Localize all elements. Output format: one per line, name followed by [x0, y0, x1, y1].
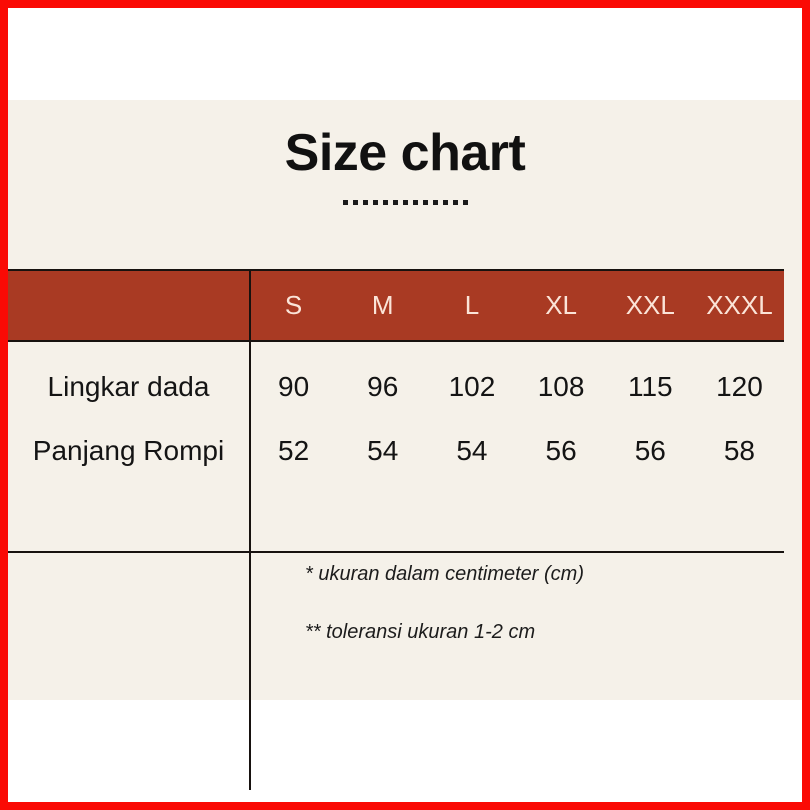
- cell-value: 54: [427, 435, 516, 467]
- cell-value: 90: [249, 371, 338, 403]
- divider-dot: [433, 200, 438, 205]
- row-values: 90 96 102 108 115 120: [249, 371, 784, 403]
- divider-dot: [453, 200, 458, 205]
- cell-value: 102: [427, 371, 516, 403]
- divider-dot: [343, 200, 348, 205]
- divider-dot: [413, 200, 418, 205]
- divider-dot: [443, 200, 448, 205]
- header-size-cells: S M L XL XXL XXXL: [249, 290, 784, 321]
- table-rule-under-header: [8, 340, 784, 342]
- divider-dot: [393, 200, 398, 205]
- cell-value: 58: [695, 435, 784, 467]
- divider-dot: [423, 200, 428, 205]
- row-label: Panjang Rompi: [8, 435, 249, 467]
- table-notes: * ukuran dalam centimeter (cm) ** tolera…: [257, 564, 777, 642]
- divider-dot: [463, 200, 468, 205]
- row-values: 52 54 54 56 56 58: [249, 435, 784, 467]
- divider-dot: [403, 200, 408, 205]
- header-cell-xxxl: XXXL: [695, 290, 784, 321]
- divider-dot: [373, 200, 378, 205]
- header-cell-xxl: XXL: [606, 290, 695, 321]
- table-column-divider: [249, 271, 251, 790]
- size-table: S M L XL XXL XXXL Lingkar dada 90 96 102…: [8, 269, 784, 692]
- title-dot-divider: [0, 200, 810, 205]
- table-rule-above-notes: [8, 551, 784, 553]
- header-cell-xl: XL: [517, 290, 606, 321]
- table-row: Lingkar dada 90 96 102 108 115 120: [8, 355, 784, 419]
- cell-value: 56: [517, 435, 606, 467]
- cell-value: 115: [606, 371, 695, 403]
- divider-dot: [353, 200, 358, 205]
- cell-value: 52: [249, 435, 338, 467]
- size-chart-page: Size chart S: [0, 0, 810, 810]
- cell-value: 54: [338, 435, 427, 467]
- note-units: * ukuran dalam centimeter (cm): [305, 564, 777, 584]
- divider-dot: [383, 200, 388, 205]
- row-label: Lingkar dada: [8, 371, 249, 403]
- header-cell-l: L: [427, 290, 516, 321]
- cell-value: 56: [606, 435, 695, 467]
- cell-value: 108: [517, 371, 606, 403]
- table-row: Panjang Rompi 52 54 54 56 56 58: [8, 419, 784, 483]
- divider-dot: [363, 200, 368, 205]
- size-chart-panel: Size chart S: [0, 100, 810, 700]
- note-tolerance: ** toleransi ukuran 1-2 cm: [305, 622, 777, 642]
- header-cell-m: M: [338, 290, 427, 321]
- cell-value: 96: [338, 371, 427, 403]
- cell-value: 120: [695, 371, 784, 403]
- table-header-row: S M L XL XXL XXXL: [8, 271, 784, 340]
- header-cell-s: S: [249, 290, 338, 321]
- page-title: Size chart: [0, 127, 810, 179]
